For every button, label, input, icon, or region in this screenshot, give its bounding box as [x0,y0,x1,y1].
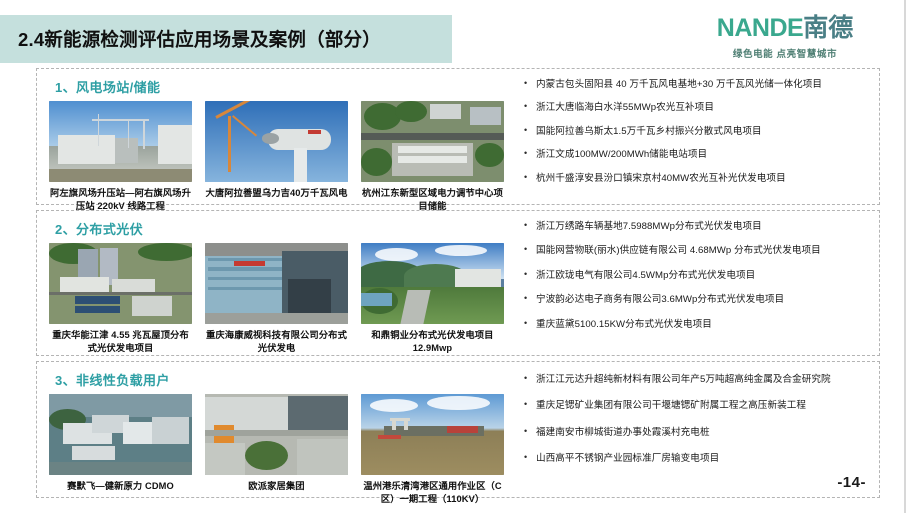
thumbnail-item[interactable]: 重庆海康威视科技有限公司分布式光伏发电 [205,243,348,354]
section-1-left: 1、风电场站/储能 [45,75,500,197]
section-3-right: 浙江江元达升超纯新材料有限公司年产5万吨超高纯金属及合金研究院 重庆足锶矿业集团… [500,368,871,490]
section-3-bullet-list: 浙江江元达升超纯新材料有限公司年产5万吨超高纯金属及合金研究院 重庆足锶矿业集团… [522,374,871,466]
thumbnail-caption: 重庆华能江津 4.55 兆瓦屋顶分布式光伏发电项目 [49,329,192,354]
brand-logo-cn: 南德 [803,14,853,42]
photo-factory-plaza [205,394,348,475]
section-2-thumbnails: 重庆华能江津 4.55 兆瓦屋顶分布式光伏发电项目 [45,243,500,354]
brand-logo-en: NANDE [717,14,803,42]
bullet-item: 浙江欧珑电气有限公司4.5WMp分布式光伏发电项目 [522,270,871,282]
section-2-bullet-list: 浙江万绣路车辆基地7.5988MWp分布式光伏发电项目 国能网营物联(丽水)供应… [522,221,871,331]
photo-glass-building [205,243,348,324]
thumbnail-item[interactable]: 杭州江东新型区域电力调节中心项目储能 [361,101,504,212]
thumbnail-caption: 温州港乐清湾港区通用作业区（C 区）一期工程（110KV） [361,480,504,505]
thumbnail-item[interactable]: 大唐阿拉善盟乌力吉40万千瓦风电 [205,101,348,212]
photo-campus-hills [361,243,504,324]
photo-substation [49,101,192,182]
photo-turbine-crane [205,101,348,182]
bullet-item: 重庆蓝黛5100.15KW分布式光伏发电项目 [522,319,871,331]
thumbnail-caption: 欧派家居集团 [205,480,348,493]
thumbnail-item[interactable]: 重庆华能江津 4.55 兆瓦屋顶分布式光伏发电项目 [49,243,192,354]
page-number: -14- [837,474,866,491]
section-wind-storage: 1、风电场站/储能 [36,68,880,205]
bullet-item: 浙江大唐临海白水洋55MWp农光互补项目 [522,102,871,114]
photo-aerial-storage [361,101,504,182]
thumbnail-item[interactable]: 和鼎铜业分布式光伏发电项目12.9Mwp [361,243,504,354]
page-title: 2.4新能源检测评估应用场景及案例（部分） [0,26,381,52]
bullet-item: 浙江万绣路车辆基地7.5988MWp分布式光伏发电项目 [522,221,871,233]
section-3-left: 3、非线性负载用户 [45,368,500,490]
section-1-thumbnails: 阿左旗风场升压站—阿右旗风场升压站 220kV 线路工程 [45,101,500,212]
brand-logo-block: NANDE南德 绿色电能 点亮智慧城市 [690,15,880,60]
bullet-item: 重庆足锶矿业集团有限公司干堰塘锶矿附属工程之高压新装工程 [522,400,871,412]
thumbnail-caption: 大唐阿拉善盟乌力吉40万千瓦风电 [205,187,348,200]
bullet-item: 杭州千盛淳安县汾口镇宋京村40MW农光互补光伏发电项目 [522,173,871,185]
section-3-heading: 3、非线性负载用户 [55,370,500,389]
sections-container: 1、风电场站/储能 [36,68,880,503]
thumbnail-item[interactable]: 欧派家居集团 [205,394,348,505]
brand-tagline: 绿色电能 点亮智慧城市 [690,46,880,60]
thumbnail-item[interactable]: 阿左旗风场升压站—阿右旗风场升压站 220kV 线路工程 [49,101,192,212]
thumbnail-caption: 阿左旗风场升压站—阿右旗风场升压站 220kV 线路工程 [49,187,192,212]
thumbnail-caption: 杭州江东新型区域电力调节中心项目储能 [361,187,504,212]
bullet-item: 浙江文成100MW/200MWh储能电站项目 [522,149,871,161]
bullet-item: 浙江江元达升超纯新材料有限公司年产5万吨超高纯金属及合金研究院 [522,374,871,386]
section-1-bullet-list: 内蒙古包头固阳县 40 万千瓦风电基地+30 万千瓦风光储一体化项目 浙江大唐临… [522,79,871,185]
thumbnail-caption: 和鼎铜业分布式光伏发电项目12.9Mwp [361,329,504,354]
section-2-heading: 2、分布式光伏 [55,219,500,238]
title-band: 2.4新能源检测评估应用场景及案例（部分） [0,15,452,63]
section-1-heading: 1、风电场站/储能 [55,77,500,96]
bullet-item: 宁波韵必达电子商务有限公司3.6MWp分布式光伏发电项目 [522,294,871,306]
thumbnail-item[interactable]: 温州港乐清湾港区通用作业区（C 区）一期工程（110KV） [361,394,504,505]
bullet-item: 内蒙古包头固阳县 40 万千瓦风电基地+30 万千瓦风光储一体化项目 [522,79,871,91]
bullet-item: 福建南安市柳城街道办事处霞溪村充电桩 [522,427,871,439]
slide-canvas: 2.4新能源检测评估应用场景及案例（部分） NANDE南德 绿色电能 点亮智慧城… [0,0,906,513]
bullet-item: 国能阿拉善乌斯太1.5万千瓦乡村振兴分散式风电项目 [522,126,871,138]
brand-logo: NANDE南德 [690,15,880,41]
photo-port [361,394,504,475]
section-distributed-pv: 2、分布式光伏 [36,210,880,356]
photo-aerial-campus [49,394,192,475]
section-3-thumbnails: 赛默飞—健新原力 CDMO [45,394,500,505]
thumbnail-caption: 赛默飞—健新原力 CDMO [49,480,192,493]
slide-header: 2.4新能源检测评估应用场景及案例（部分） NANDE南德 绿色电能 点亮智慧城… [0,15,906,63]
bullet-item: 山西高平不锈钢产业园标准厂房输变电项目 [522,453,871,465]
bullet-item: 国能网营物联(丽水)供应链有限公司 4.68MWp 分布式光伏发电项目 [522,245,871,257]
section-2-right: 浙江万绣路车辆基地7.5988MWp分布式光伏发电项目 国能网营物联(丽水)供应… [500,217,871,348]
thumbnail-caption: 重庆海康威视科技有限公司分布式光伏发电 [205,329,348,354]
photo-aerial-plant [49,243,192,324]
section-1-right: 内蒙古包头固阳县 40 万千瓦风电基地+30 万千瓦风光储一体化项目 浙江大唐临… [500,75,871,197]
section-nonlinear-load: 3、非线性负载用户 [36,361,880,498]
thumbnail-item[interactable]: 赛默飞—健新原力 CDMO [49,394,192,505]
section-2-left: 2、分布式光伏 [45,217,500,348]
